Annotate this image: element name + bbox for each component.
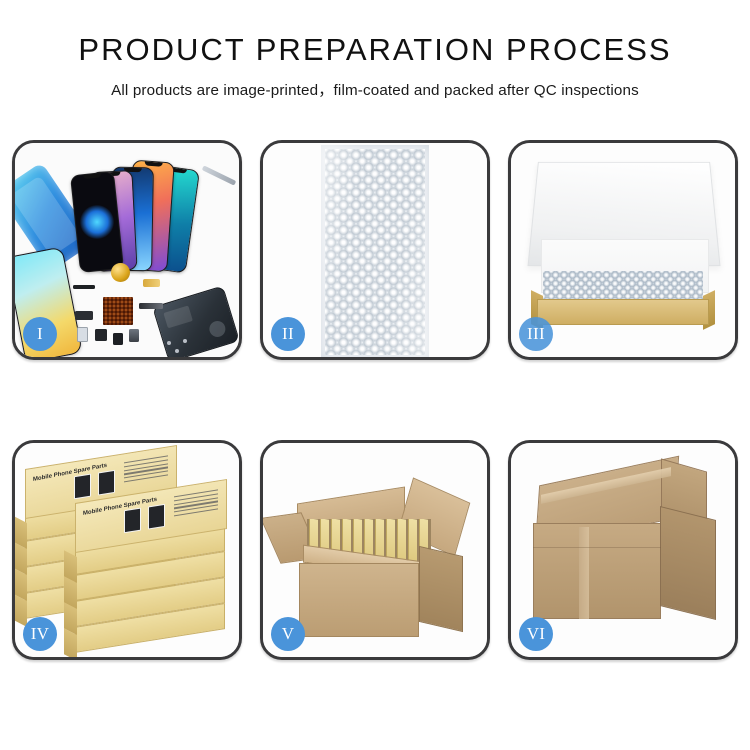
phone-display-fan-icon <box>73 149 239 271</box>
step-badge-6: VI <box>519 617 553 651</box>
step-panel-3: III <box>508 140 738 360</box>
step-badge-5: V <box>271 617 305 651</box>
screw-icon-1 <box>167 341 171 345</box>
camera-module-icon <box>95 329 107 341</box>
box-front-panel <box>537 299 709 325</box>
gold-flex-cable-icon <box>143 279 160 287</box>
box-screen-image-1 <box>74 474 91 500</box>
copper-mesh-icon <box>103 297 133 325</box>
bubble-wrap-icon <box>321 145 429 357</box>
button-component-icon <box>129 329 139 342</box>
step-badge-3: III <box>519 317 553 351</box>
bubble-pattern <box>325 149 425 355</box>
step-panel-2: II <box>260 140 490 360</box>
sim-tray-icon <box>77 327 88 342</box>
step-badge-4: IV <box>23 617 57 651</box>
bubble-wrap-inside-box-icon <box>543 271 703 301</box>
infographic-page: PRODUCT PREPARATION PROCESS All products… <box>0 0 750 750</box>
connector-icon <box>75 311 93 320</box>
page-title: PRODUCT PREPARATION PROCESS <box>0 34 750 67</box>
vibration-motor-icon <box>113 333 123 345</box>
step-panel-4: Mobile Phone Spare Parts Mobile Phone Sp… <box>12 440 242 660</box>
step-panel-1: I <box>12 140 242 360</box>
ribbon-cable-icon <box>139 303 163 309</box>
step-badge-1: I <box>23 317 57 351</box>
earpiece-speaker-icon <box>73 285 95 289</box>
screw-icon-3 <box>183 339 187 343</box>
copper-coil-icon <box>111 263 130 282</box>
box-screen-image-3 <box>124 508 141 534</box>
page-subtitle: All products are image-printed，film-coat… <box>0 78 750 100</box>
carton-body-front <box>299 563 419 637</box>
box-label-text-back: Mobile Phone Spare Parts <box>33 463 107 483</box>
step-panel-5: V <box>260 440 490 660</box>
box-screen-image-2 <box>98 470 115 496</box>
sealed-carton-front <box>533 523 661 619</box>
box-spec-lines-back <box>124 455 168 485</box>
process-step-grid: I II III <box>12 140 738 660</box>
spare-parts-cluster <box>71 263 211 357</box>
step-panel-6: VI <box>508 440 738 660</box>
box-screen-image-4 <box>148 504 165 530</box>
box-spec-lines-front <box>174 489 218 519</box>
screw-icon-2 <box>175 349 179 353</box>
carton-body-side <box>419 546 463 632</box>
step-badge-2: II <box>271 317 305 351</box>
box-label-text-front: Mobile Phone Spare Parts <box>83 497 157 517</box>
heading-block: PRODUCT PREPARATION PROCESS All products… <box>0 0 750 100</box>
sealed-carton-side <box>660 506 716 620</box>
carton-seam-line <box>533 547 661 548</box>
packing-tape-front-icon <box>579 527 589 619</box>
